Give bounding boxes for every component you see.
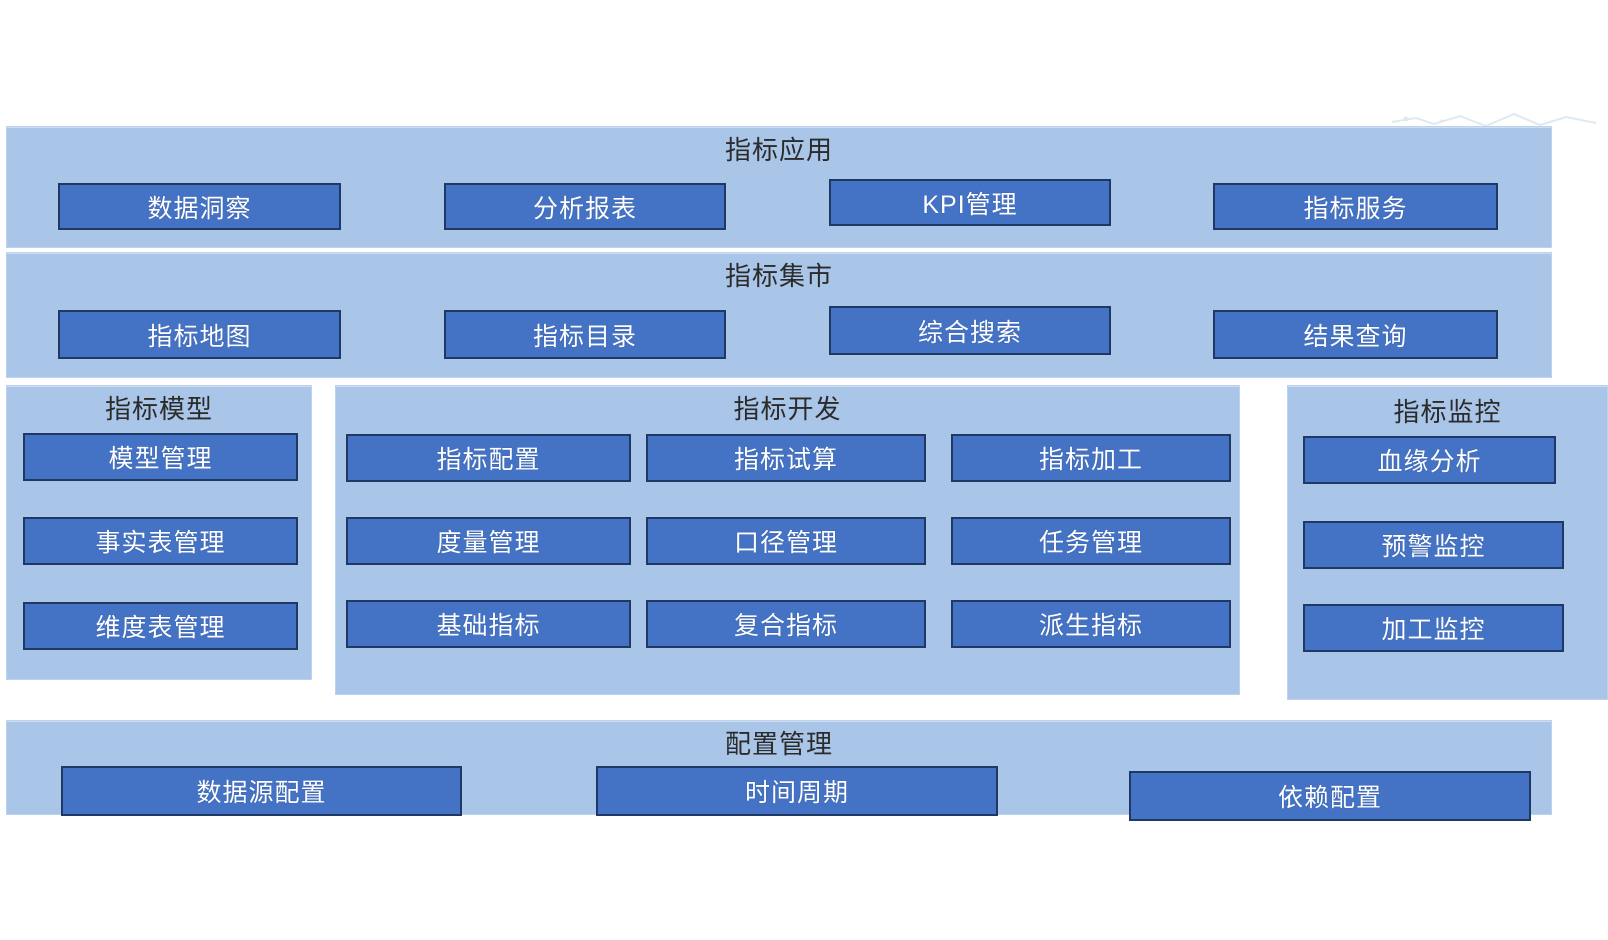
box-indicator-map[interactable]: 指标地图 bbox=[58, 310, 341, 359]
box-processing-monitoring[interactable]: 加工监控 bbox=[1303, 604, 1564, 652]
layer-market: 指标集市 指标地图 指标目录 综合搜索 结果查询 bbox=[6, 252, 1552, 378]
box-composite-indicator[interactable]: 复合指标 bbox=[646, 600, 926, 648]
box-dimension-table-management[interactable]: 维度表管理 bbox=[23, 602, 298, 650]
box-task-management[interactable]: 任务管理 bbox=[951, 517, 1231, 565]
layer-application: 指标应用 数据洞察 分析报表 KPI管理 指标服务 bbox=[6, 126, 1552, 248]
box-indicator-processing[interactable]: 指标加工 bbox=[951, 434, 1231, 482]
box-indicator-catalog[interactable]: 指标目录 bbox=[444, 310, 726, 359]
box-comprehensive-search[interactable]: 综合搜索 bbox=[829, 306, 1111, 355]
layer-monitoring: 指标监控 血缘分析 预警监控 加工监控 bbox=[1287, 385, 1608, 700]
layer-configuration: 配置管理 数据源配置 时间周期 依赖配置 bbox=[6, 720, 1552, 815]
layer-monitoring-title: 指标监控 bbox=[1288, 397, 1607, 427]
layer-application-title: 指标应用 bbox=[7, 135, 1551, 165]
box-dependency-configuration[interactable]: 依赖配置 bbox=[1129, 771, 1531, 821]
box-kpi-management[interactable]: KPI管理 bbox=[829, 179, 1111, 226]
box-analysis-report[interactable]: 分析报表 bbox=[444, 183, 726, 230]
layer-development: 指标开发 指标配置 指标试算 指标加工 度量管理 口径管理 任务管理 基础指标 … bbox=[335, 385, 1240, 695]
box-basic-indicator[interactable]: 基础指标 bbox=[346, 600, 631, 648]
box-result-query[interactable]: 结果查询 bbox=[1213, 310, 1498, 359]
box-datasource-configuration[interactable]: 数据源配置 bbox=[61, 766, 462, 816]
box-model-management[interactable]: 模型管理 bbox=[23, 433, 298, 481]
box-fact-table-management[interactable]: 事实表管理 bbox=[23, 517, 298, 565]
box-time-period[interactable]: 时间周期 bbox=[596, 766, 998, 816]
box-data-insight[interactable]: 数据洞察 bbox=[58, 183, 341, 230]
box-lineage-analysis[interactable]: 血缘分析 bbox=[1303, 436, 1556, 484]
layer-model: 指标模型 模型管理 事实表管理 维度表管理 bbox=[6, 385, 312, 680]
box-indicator-service[interactable]: 指标服务 bbox=[1213, 183, 1498, 230]
layer-market-title: 指标集市 bbox=[7, 261, 1551, 291]
layer-development-title: 指标开发 bbox=[336, 394, 1239, 424]
box-measure-management[interactable]: 度量管理 bbox=[346, 517, 631, 565]
layer-configuration-title: 配置管理 bbox=[7, 729, 1551, 759]
layer-model-title: 指标模型 bbox=[7, 394, 311, 424]
box-indicator-trial-calculation[interactable]: 指标试算 bbox=[646, 434, 926, 482]
architecture-diagram-canvas: 指标应用 数据洞察 分析报表 KPI管理 指标服务 指标集市 指标地图 指标目录… bbox=[0, 0, 1608, 940]
box-alert-monitoring[interactable]: 预警监控 bbox=[1303, 521, 1564, 569]
box-caliber-management[interactable]: 口径管理 bbox=[646, 517, 926, 565]
box-indicator-configuration[interactable]: 指标配置 bbox=[346, 434, 631, 482]
box-derived-indicator[interactable]: 派生指标 bbox=[951, 600, 1231, 648]
